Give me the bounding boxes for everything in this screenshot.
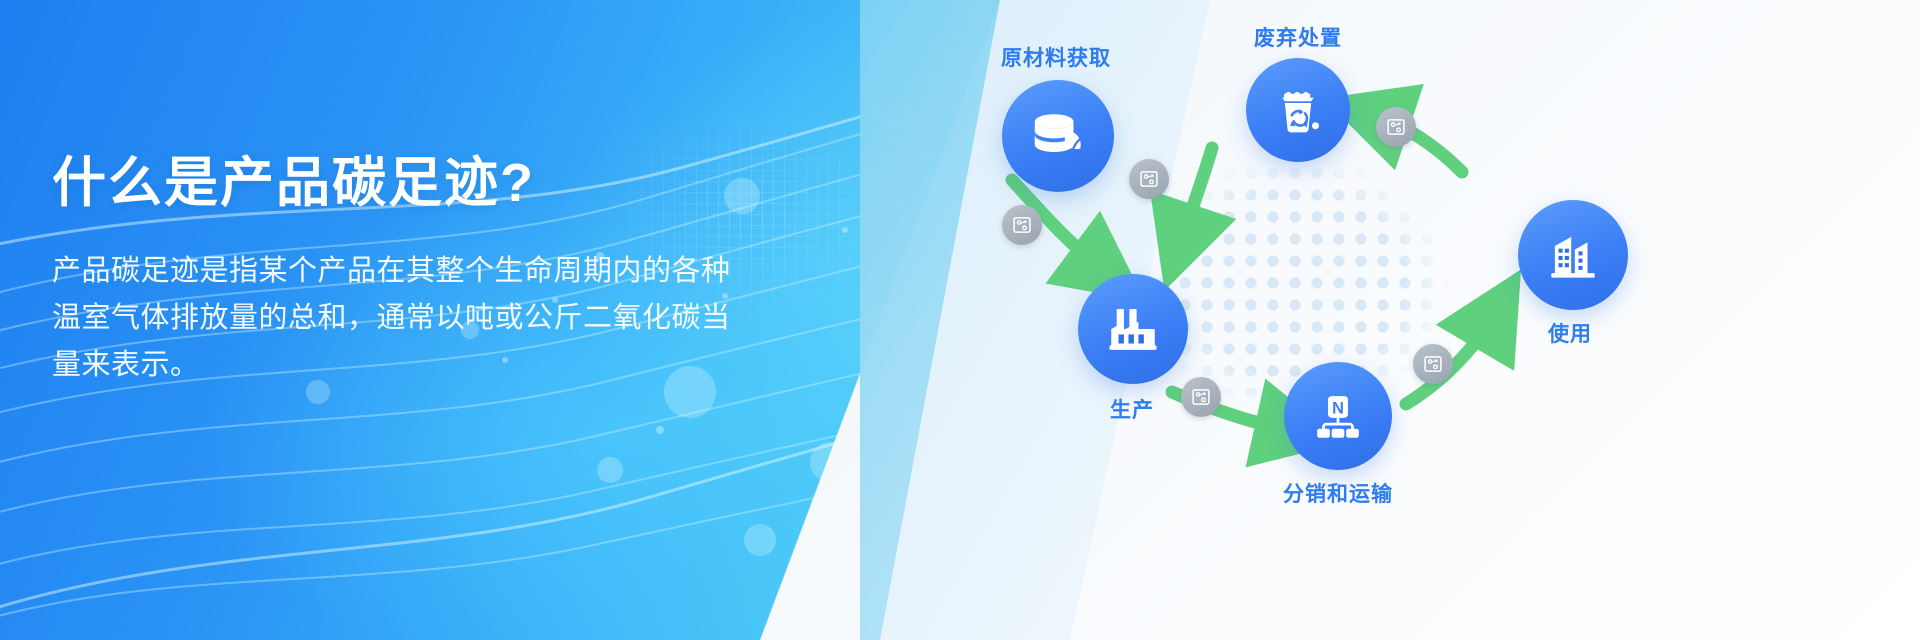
node-raw-material[interactable]: 原材料获取 [946, 30, 1166, 230]
production-bubble[interactable] [1078, 274, 1188, 384]
carbon-footprint-banner: 什么是产品碳足迹? 产品碳足迹是指某个产品在其整个生命周期内的各种温室气体排放量… [0, 0, 1920, 640]
node-distribution[interactable]: N 分销和运输 [1218, 356, 1458, 536]
connector-chip-5[interactable] [1181, 377, 1221, 417]
broken-image-icon [1423, 354, 1443, 374]
broken-image-icon [1386, 117, 1406, 137]
raw-material-bubble[interactable] [1002, 80, 1114, 192]
node-use[interactable]: 使用 [1460, 190, 1680, 390]
use-bubble[interactable] [1518, 200, 1628, 310]
node-label-raw-material: 原材料获取 [936, 42, 1176, 72]
connector-chip-3[interactable] [1376, 107, 1416, 147]
trash-recycle-icon [1270, 82, 1326, 138]
broken-image-icon [1139, 169, 1159, 189]
distribution-bubble[interactable]: N [1284, 362, 1392, 470]
waste-bubble[interactable] [1246, 58, 1350, 162]
page-description: 产品碳足迹是指某个产品在其整个生命周期内的各种温室气体排放量的总和，通常以吨或公… [52, 248, 752, 389]
node-label-waste: 废弃处置 [1178, 22, 1418, 52]
factory-icon [1104, 300, 1162, 358]
buildings-icon [1544, 226, 1602, 284]
lifecycle-diagram: 原材料获取 废弃处置 [900, 0, 1920, 640]
node-label-distribution: 分销和运输 [1218, 478, 1458, 508]
broken-image-icon [1012, 215, 1032, 235]
node-waste[interactable]: 废弃处置 [1188, 14, 1408, 214]
connector-chip-4[interactable] [1413, 344, 1453, 384]
page-title: 什么是产品碳足迹? [52, 152, 792, 214]
database-leaf-icon [1027, 105, 1089, 167]
connector-chip-1[interactable] [1002, 205, 1042, 245]
broken-image-icon [1191, 387, 1211, 407]
network-node-icon: N [1309, 387, 1367, 445]
connector-chip-2[interactable] [1129, 159, 1169, 199]
svg-text:N: N [1332, 399, 1344, 417]
node-production[interactable]: 生产 [1022, 270, 1242, 460]
node-label-use: 使用 [1450, 318, 1690, 348]
text-block: 什么是产品碳足迹? 产品碳足迹是指某个产品在其整个生命周期内的各种温室气体排放量… [52, 152, 792, 389]
